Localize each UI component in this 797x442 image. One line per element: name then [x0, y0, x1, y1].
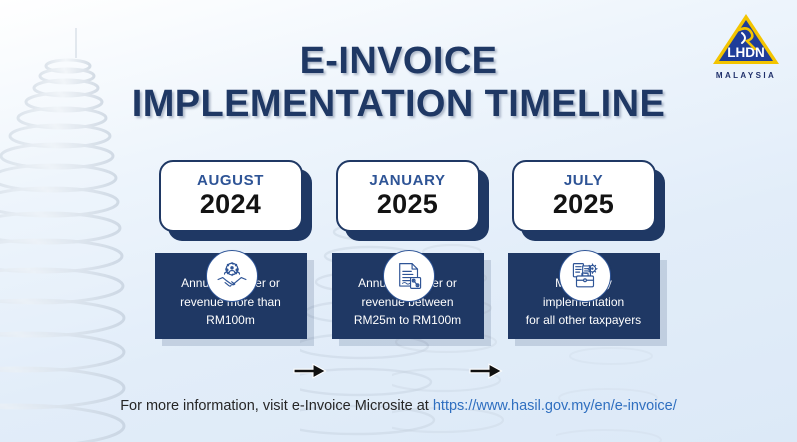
briefcase-documents-gear-icon [559, 250, 611, 302]
footer: For more information, visit e-Invoice Mi… [0, 398, 797, 414]
desc-line: RM25m to RM100m [339, 311, 477, 330]
milestone-month: JULY [564, 173, 603, 188]
desc-line: for all other taxpayers [515, 311, 653, 330]
date-card-face[interactable]: JANUARY 2025 [336, 160, 480, 232]
date-card-august-2024[interactable]: AUGUST 2024 [159, 160, 303, 232]
e-invoice-microsite-link[interactable]: https://www.hasil.gov.my/en/e-invoice/ [433, 398, 677, 414]
handshake-gear-people-icon [206, 250, 258, 302]
timeline-milestone-3[interactable]: JULY 2025 [496, 160, 671, 339]
briefcase-documents-gear-glyph [568, 259, 602, 293]
date-card-january-2025[interactable]: JANUARY 2025 [336, 160, 480, 232]
milestone-year: 2025 [553, 190, 614, 218]
timeline-milestone-1[interactable]: AUGUST 2024 [143, 160, 318, 339]
handshake-gear-people-glyph [215, 259, 249, 293]
date-card-face[interactable]: JULY 2025 [512, 160, 656, 232]
invoice-document-percent-glyph [392, 259, 426, 293]
footer-text: For more information, visit e-Invoice Mi… [120, 398, 433, 414]
milestone-year: 2025 [377, 190, 438, 218]
page-title: E-INVOICE IMPLEMENTATION TIMELINE [0, 40, 797, 126]
invoice-document-percent-icon [383, 250, 435, 302]
arrow-right-icon [293, 363, 327, 379]
desc-line: RM100m [162, 311, 300, 330]
arrow-right-icon [469, 363, 503, 379]
title-line-1: E-INVOICE [0, 40, 797, 83]
timeline-milestone-2[interactable]: JANUARY 2025 [320, 160, 495, 339]
milestone-year: 2024 [200, 190, 261, 218]
date-card-july-2025[interactable]: JULY 2025 [512, 160, 656, 232]
slide-canvas: LHDN MALAYSIA E-INVOICE IMPLEMENTATION T… [0, 0, 797, 442]
milestone-month: JANUARY [369, 173, 445, 188]
date-card-face[interactable]: AUGUST 2024 [159, 160, 303, 232]
timeline: AUGUST 2024 [0, 160, 797, 390]
title-line-2: IMPLEMENTATION TIMELINE [0, 83, 797, 126]
milestone-month: AUGUST [197, 173, 264, 188]
